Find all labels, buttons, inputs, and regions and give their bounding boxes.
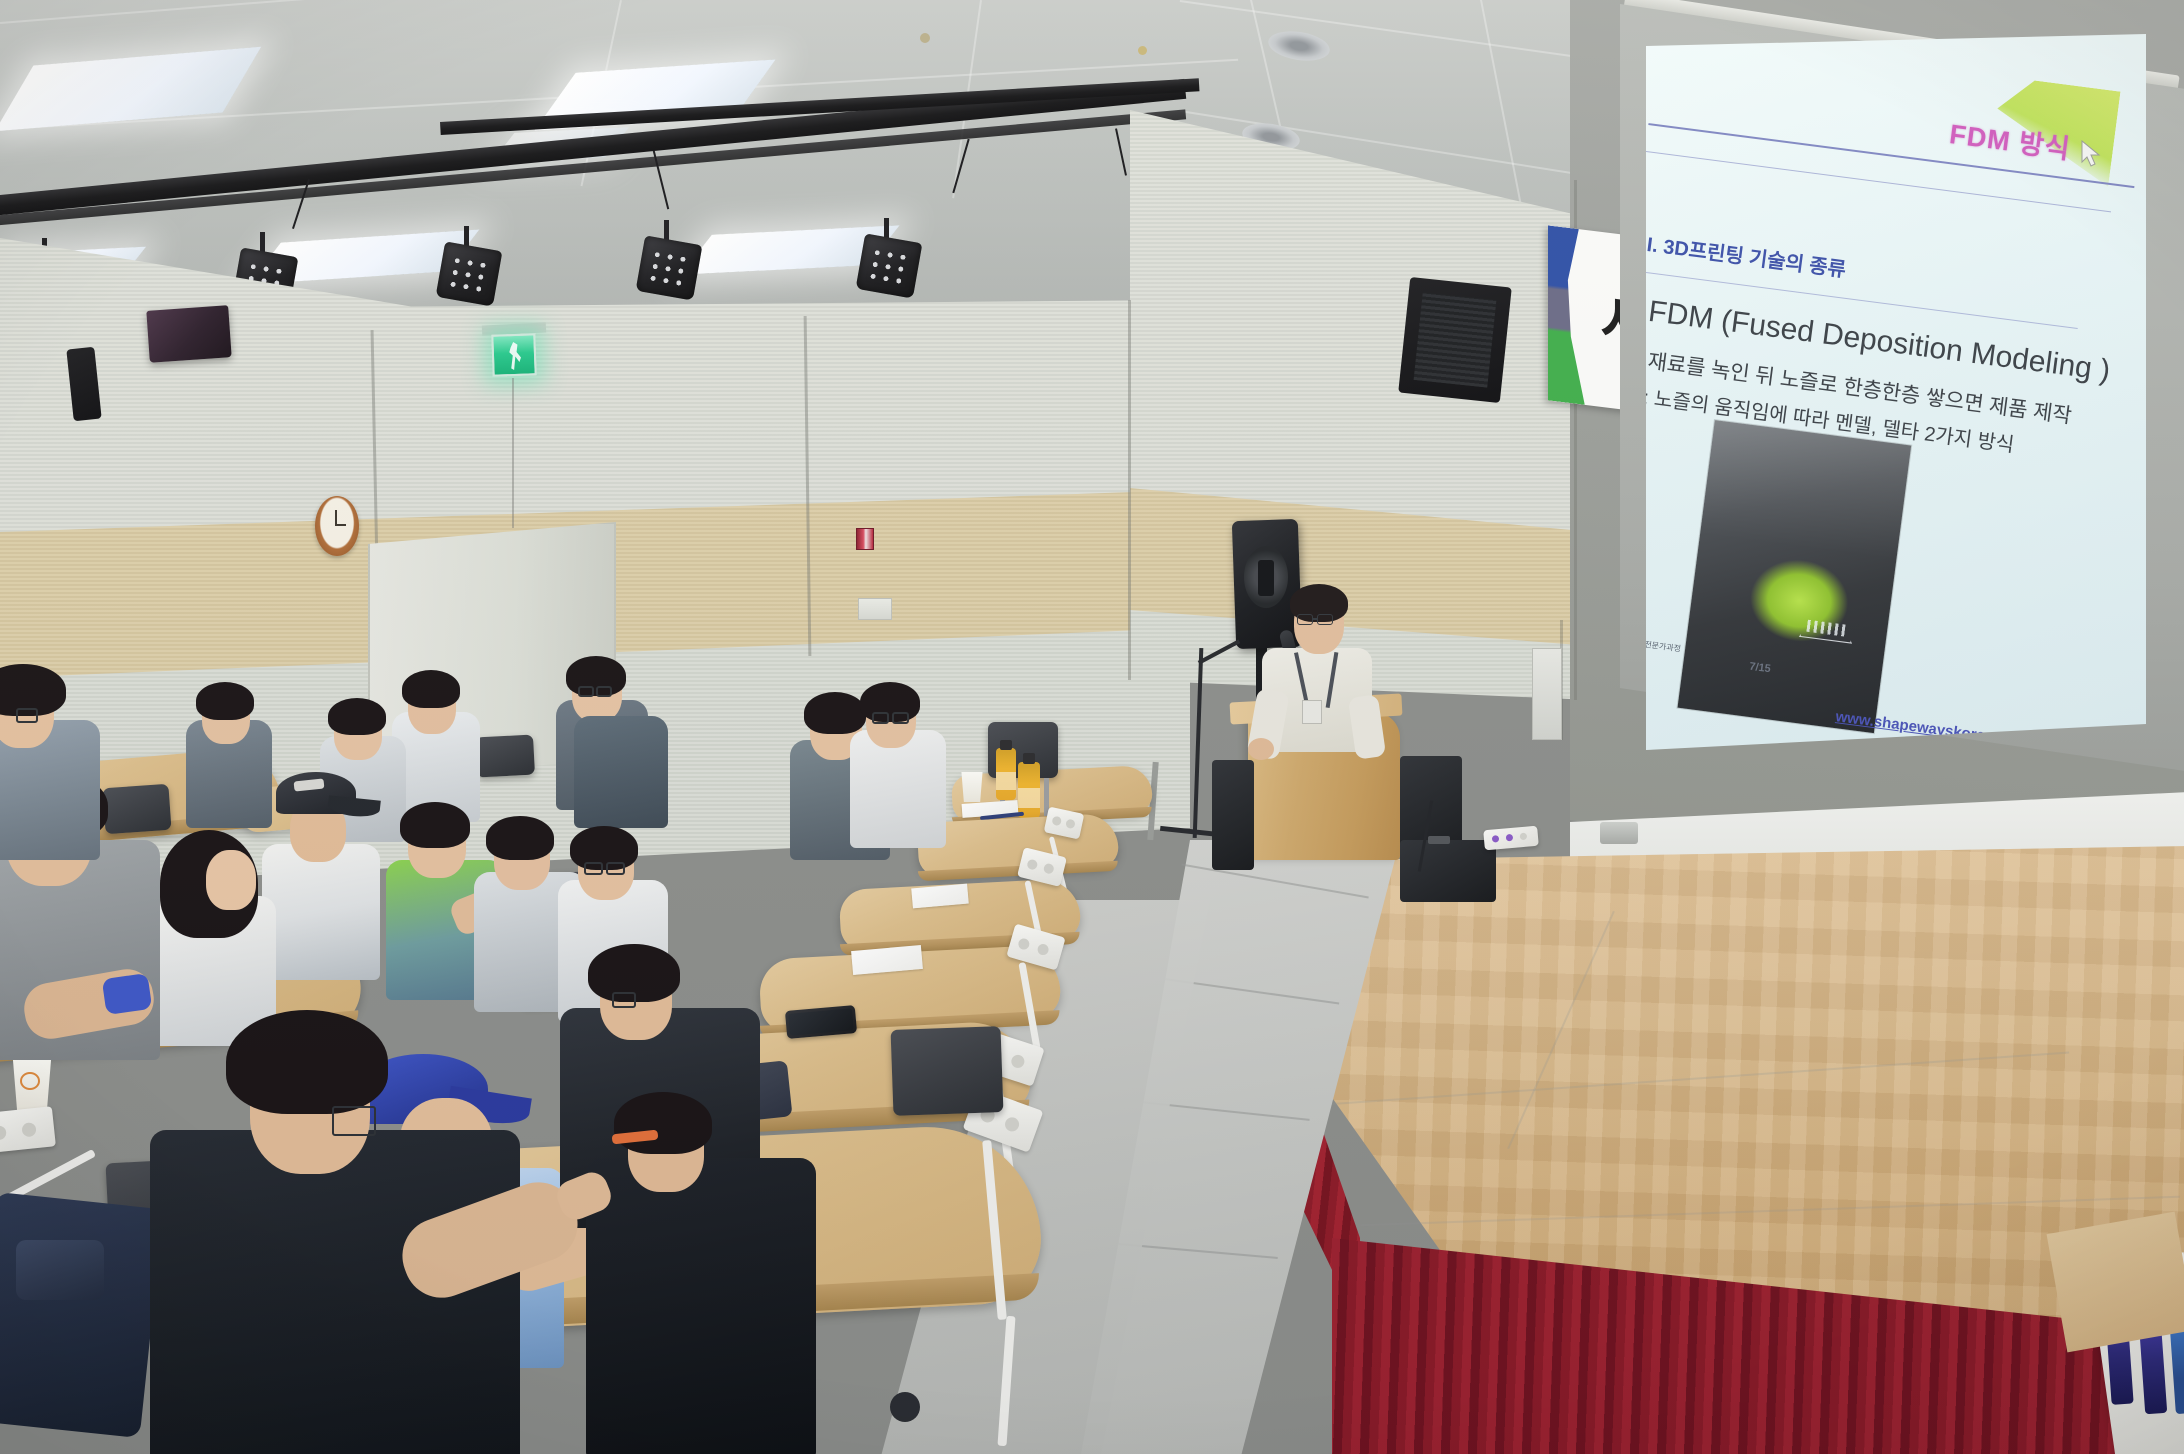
blue-object-in-hand[interactable] (102, 973, 153, 1015)
student-body (574, 716, 668, 828)
drink-bottle[interactable] (1018, 762, 1040, 818)
student-foreground-glasses (332, 1106, 376, 1136)
power-strip-left[interactable] (0, 1106, 56, 1154)
student-hair (400, 802, 470, 848)
speaker-horn (1258, 560, 1274, 596)
slide-section-heading: I. 3D프린팅 기술의 종류 (1646, 228, 1848, 283)
student-glasses (892, 712, 909, 724)
slide-page-number: 7/15 (1749, 661, 1772, 676)
auditorium-photo: 서울 FDM 방식 I. 3D프린팅 기술의 종류 › FDM (Fused D… (0, 0, 2184, 1454)
projected-slide: FDM 방식 I. 3D프린팅 기술의 종류 › FDM (Fused Depo… (1646, 34, 2146, 750)
wall-speaker-purple (146, 305, 231, 363)
sprinkler-head (920, 33, 930, 43)
student-hair (486, 816, 554, 860)
mouse-cursor-icon (2080, 140, 2102, 168)
wall-clock (315, 496, 359, 556)
exit-sign (491, 333, 536, 377)
wall-switch-plate[interactable] (858, 598, 892, 620)
chair[interactable] (475, 735, 535, 778)
student-hair (614, 1092, 712, 1154)
student-glasses (584, 862, 603, 875)
backpack-pocket (16, 1240, 104, 1300)
student-glasses (578, 686, 594, 697)
table-corner-right (2047, 1212, 2184, 1353)
student-foreground-body (150, 1130, 520, 1454)
student-foreground-hair (226, 1010, 388, 1114)
student-body-patterned (262, 844, 380, 980)
student-glasses (872, 712, 889, 724)
student-glasses (606, 862, 625, 875)
stage-light-parcan (640, 240, 698, 312)
case-handle (1428, 836, 1450, 844)
student-hair (570, 826, 638, 870)
student-face (206, 850, 256, 910)
presenter-badge (1302, 700, 1322, 724)
backpack[interactable] (0, 1192, 164, 1438)
drink-bottle[interactable] (996, 748, 1016, 800)
fire-alarm-button[interactable] (856, 528, 874, 550)
equipment-case (1400, 840, 1496, 902)
presenter-glasses-right (1317, 614, 1333, 625)
paper-cup[interactable] (960, 772, 984, 802)
stage-power-strip[interactable] (1483, 826, 1539, 851)
exit-sign-wire (512, 378, 514, 528)
wall-panel-plate (1532, 648, 1562, 740)
student-glasses (16, 708, 38, 723)
chair-caster (890, 1392, 920, 1422)
presenter-glasses-bridge (1313, 618, 1318, 620)
amplifier-box-left (1212, 760, 1254, 870)
slide-photo-3d-printer (1677, 420, 1911, 733)
student-hair (328, 698, 386, 735)
chair[interactable] (891, 1026, 1004, 1116)
student-hair (860, 682, 920, 722)
student-body-dark (586, 1158, 816, 1454)
student-hair (804, 692, 866, 734)
floor-object (1600, 822, 1638, 844)
chair[interactable] (102, 784, 171, 834)
student-glasses (612, 992, 636, 1008)
wall-speaker-grille (1414, 292, 1497, 387)
presenter-glasses-left (1297, 614, 1313, 625)
cup-smiley-mark (20, 1072, 40, 1090)
presenter-hand (1248, 738, 1274, 760)
student-hair (196, 682, 254, 720)
partition-joint (1128, 300, 1131, 680)
student-hair (402, 670, 460, 708)
student-glasses (596, 686, 612, 697)
sprinkler-head (1138, 46, 1147, 55)
slide-footer-note: 3D프린팅운영전문가과정 (1646, 633, 1682, 655)
stage-light-parcan (860, 238, 918, 310)
